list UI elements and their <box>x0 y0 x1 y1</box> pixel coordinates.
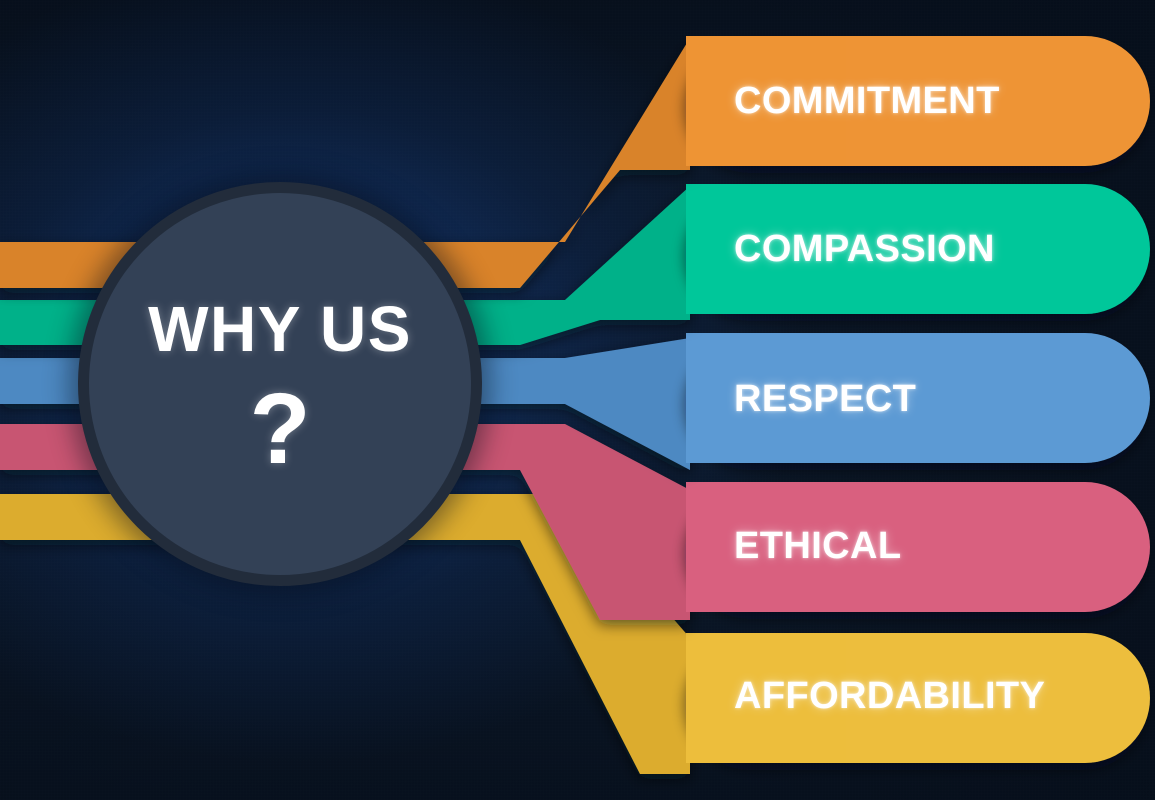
branch-commitment-pill-square-cap <box>686 36 846 166</box>
hub-question-mark: ? <box>89 379 471 479</box>
hub-circle[interactable]: WHY US ? <box>78 182 482 586</box>
branch-compassion-pill-square-cap <box>686 184 846 314</box>
branch-affordability-pill-square-cap <box>686 633 846 763</box>
branch-ethical-pill-square-cap <box>686 482 846 612</box>
infographic-canvas: WHY US ? COMMITMENT COMPASSION RESPECT E… <box>0 0 1155 800</box>
hub-title: WHY US <box>89 297 471 361</box>
branch-respect-pill-square-cap <box>686 333 846 463</box>
